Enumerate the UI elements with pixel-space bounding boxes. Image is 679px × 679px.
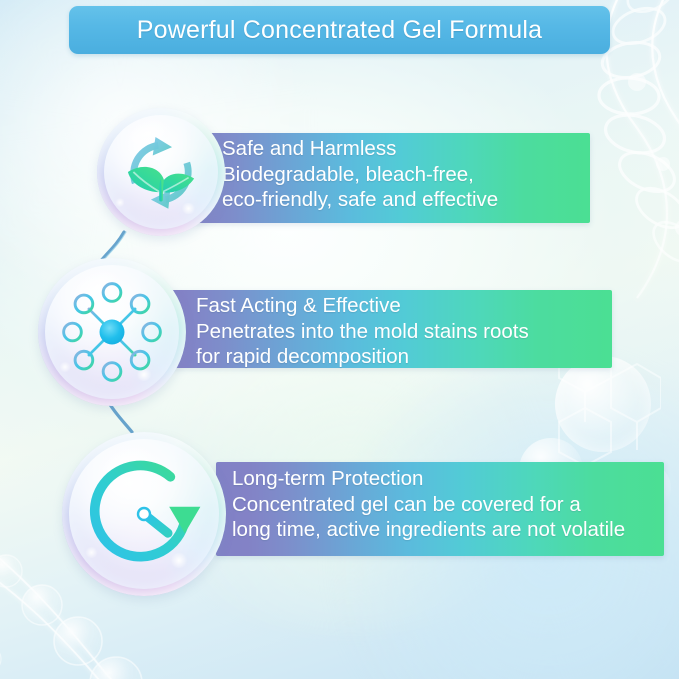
feature-3-line-3: long time, active ingredients are not vo… — [232, 517, 625, 543]
feature-2-bubble — [38, 258, 186, 406]
decor-bubble-large — [555, 356, 651, 452]
feature-3-line-1: Long-term Protection — [232, 466, 625, 492]
molecule-network-icon — [60, 280, 164, 384]
feature-2-text: Fast Acting & Effective Penetrates into … — [196, 293, 529, 370]
clock-arrow-icon — [84, 454, 204, 574]
feature-1-bubble — [97, 108, 225, 236]
recycle-leaf-icon — [115, 126, 207, 218]
feature-3-bubble — [62, 432, 226, 596]
feature-1-line-2: Biodegradable, bleach-free, — [222, 162, 498, 188]
header-banner: Powerful Concentrated Gel Formula — [69, 6, 610, 54]
feature-1-line-1: Safe and Harmless — [222, 136, 498, 162]
feature-1-text: Safe and Harmless Biodegradable, bleach-… — [222, 136, 498, 213]
page-title: Powerful Concentrated Gel Formula — [137, 16, 542, 45]
feature-1-line-3: eco-friendly, safe and effective — [222, 187, 498, 213]
feature-2-line-1: Fast Acting & Effective — [196, 293, 529, 319]
feature-3-line-2: Concentrated gel can be covered for a — [232, 492, 625, 518]
feature-3-text: Long-term Protection Concentrated gel ca… — [232, 466, 625, 543]
feature-2-line-3: for rapid decomposition — [196, 344, 529, 370]
feature-2-line-2: Penetrates into the mold stains roots — [196, 319, 529, 345]
infographic-canvas: Powerful Concentrated Gel Formula Safe a… — [0, 0, 679, 679]
